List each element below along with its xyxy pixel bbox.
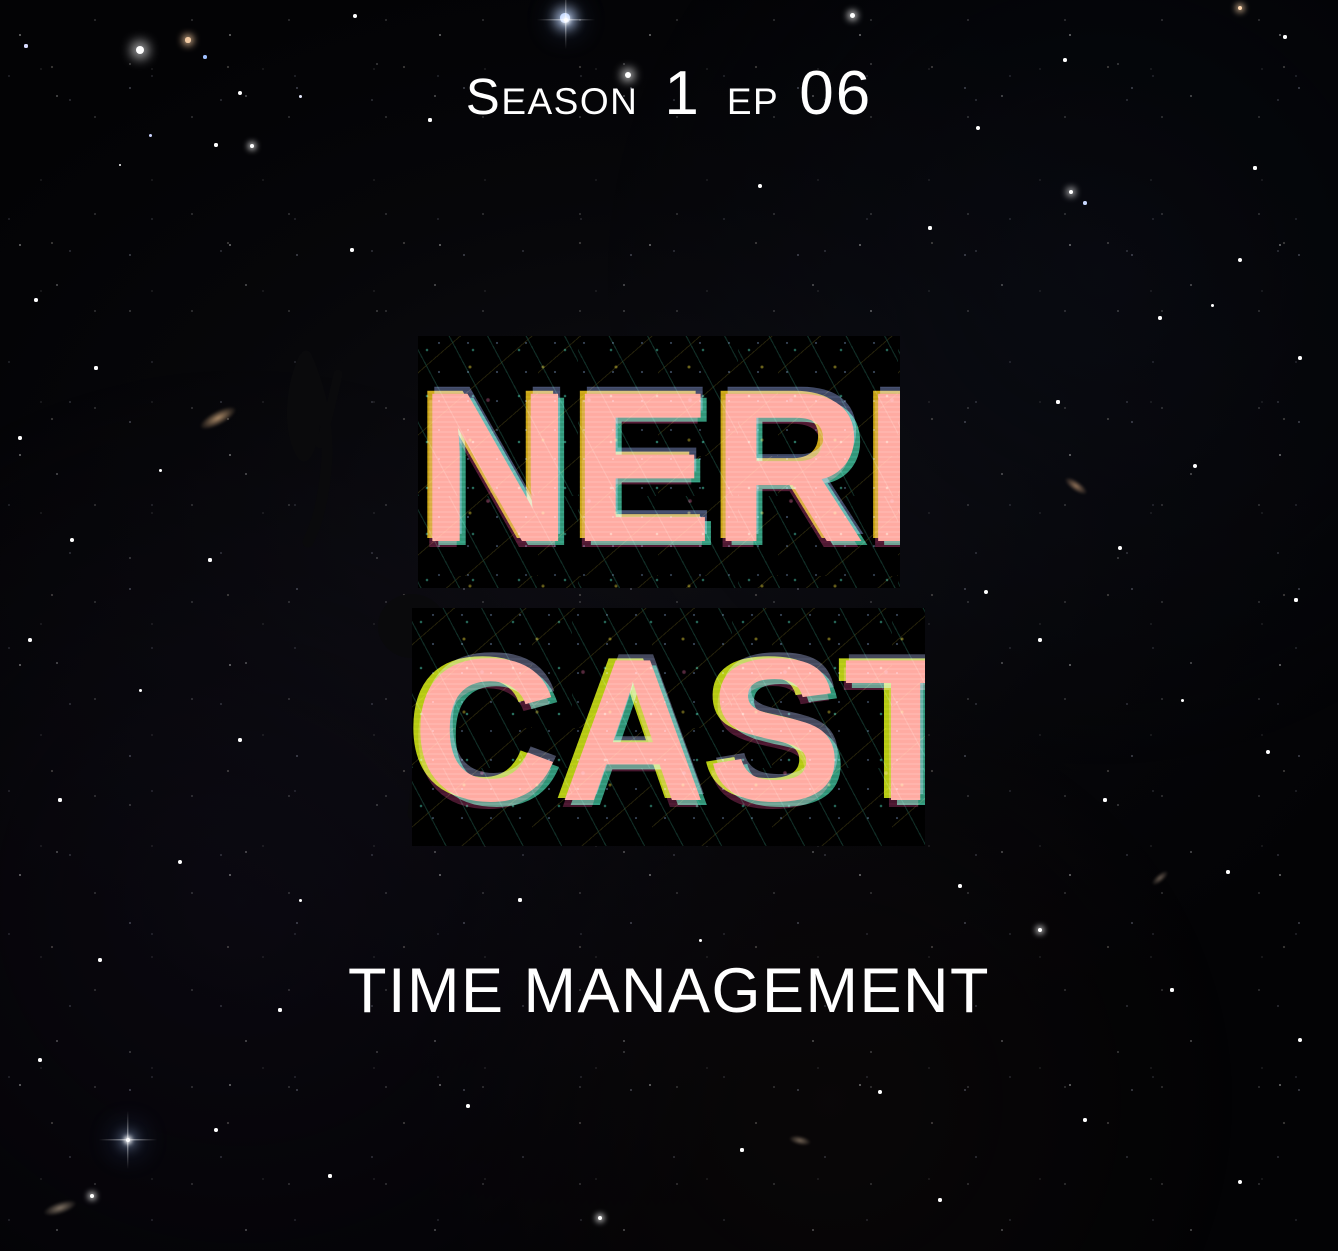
season-label-smallcaps: EASON (501, 81, 638, 122)
episode-title-row: TIME MANAGEMENT (0, 960, 1338, 1023)
season-label: SEASON (466, 81, 639, 122)
podcast-cover-art: SEASON1EP06 NERD NERD NERD NERD NERD CAS… (0, 0, 1338, 1251)
episode-number: 06 (799, 59, 872, 128)
logo-panel-nerd: NERD NERD NERD NERD NERD (418, 336, 900, 588)
episode-label: EP (727, 81, 779, 122)
logo-nerd-text: NERD (418, 342, 900, 588)
episode-title: TIME MANAGEMENT (348, 960, 990, 1023)
logo-panel-cast: CAST CAST CAST CAST CAST (412, 608, 925, 846)
season-number: 1 (664, 59, 700, 128)
logo-cast-text: CAST (412, 612, 925, 846)
bright-star-with-spikes (564, 18, 568, 22)
season-label-capital: S (466, 68, 502, 125)
bright-star-with-spikes (126, 1138, 130, 1142)
episode-header: SEASON1EP06 (0, 58, 1338, 129)
